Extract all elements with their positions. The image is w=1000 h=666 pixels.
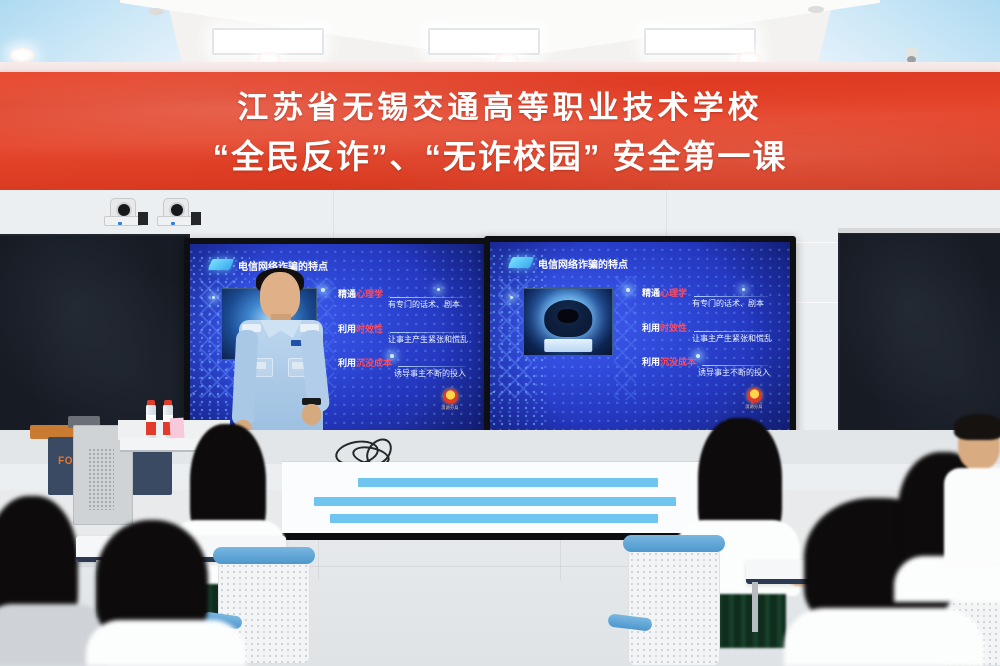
ceiling-downlight-1 [10,48,34,62]
officer-head [260,272,300,320]
bullet-3-lead [702,365,768,366]
slide-tag-icon [508,257,534,268]
badge-label: 滨湖分局 [433,405,467,411]
police-badge-icon: 滨湖分局 [433,389,467,411]
slide-photo-right [523,288,613,356]
bullet-2-prefix: 利用 [338,324,356,334]
floor-seam-2 [318,540,319,580]
classroom-photo-scene: 江苏省无锡交通高等职业技术学校 “全民反诈”、“无诈校园” 安全第一课 [0,0,1000,666]
screen-glow-dot [626,288,630,292]
ceiling [0,0,1000,78]
slide-bullet-1: 精通心理学 [642,286,687,299]
ptz-camera-left [104,198,140,228]
slide-bullet-2: 利用时效性 [338,322,383,335]
student-foreground-left [96,520,246,666]
bullet-1-highlight: 心理学 [356,289,383,299]
slide-sub-1: 有专门的话术、剧本 [388,299,460,310]
bullet-2-lead [390,332,466,333]
student-shirt [86,620,246,666]
attendee-hair [954,414,1000,440]
slide-sub-3: 诱导事主不断的投入 [698,367,770,378]
ceiling-panel-light-3 [644,28,756,55]
left-display[interactable]: 电信网络诈骗的特点 精通心理学 有专门的话术、剧本 利用时效性 让事主产生紧张和… [184,238,490,442]
desk-leg [752,582,758,632]
slide-bullet-2: 利用时效性 [642,321,687,334]
bullet-3-highlight: 沉没成本 [660,357,696,367]
screen-glow-dot [742,288,745,291]
ceiling-panel-light-1 [212,28,324,55]
bullet-3-prefix: 利用 [642,357,660,367]
banner-line-theme: “全民反诈”、“无诈校园” 安全第一课 [0,140,1000,173]
stage-stripe-2 [314,497,676,506]
slide-bullet-1: 精通心理学 [338,287,383,300]
ptz-camera-right [157,198,193,228]
screen-glow-dot [510,296,513,299]
slide-sub-2: 让事主产生紧张和慌乱 [692,333,772,344]
screen-glow-dot [212,296,215,299]
student-chair-right[interactable] [628,544,720,666]
screen-hex-grid-mid [614,276,636,400]
bullet-3-highlight: 沉没成本 [356,358,392,368]
adult-attendee-right [950,412,1000,562]
banner-line-school: 江苏省无锡交通高等职业技术学校 [0,92,1000,123]
stage-stripe-1 [358,478,658,487]
stage-front-panel [282,462,712,540]
bullet-2-lead [694,331,768,332]
bullet-2-highlight: 时效性 [660,323,687,333]
police-officer-speaker [236,270,326,445]
slide-title: 电信网络诈骗的特点 [538,256,628,271]
bullet-1-prefix: 精通 [642,288,660,298]
stage-stripe-3 [330,514,658,523]
floor-seam-3 [560,540,561,580]
attendee-shirt [944,468,1000,564]
bullet-3-prefix: 利用 [338,358,356,368]
bullet-1-lead [390,297,466,298]
hooded-hacker-icon [524,289,612,355]
bullet-1-prefix: 精通 [338,289,356,299]
bullet-2-highlight: 时效性 [356,324,383,334]
water-bottle-1[interactable] [146,404,156,438]
chalk-rail-right [838,228,1000,233]
student-shirt [784,608,984,666]
event-banner: 江苏省无锡交通高等职业技术学校 “全民反诈”、“无诈校园” 安全第一课 [0,72,1000,192]
slide-sub-3: 诱导事主不断的投入 [394,368,466,379]
ceiling-panel-light-2 [428,28,540,55]
right-screen-content: 电信网络诈骗的特点 精通心理学 有专门的话术、剧本 利用时效性 让事主产生紧张和… [490,242,790,436]
smoke-detector-left [148,8,164,15]
chalkboard-left [0,234,190,434]
slide-bullet-3: 利用沉没成本 [338,356,392,369]
bullet-1-lead [694,296,768,297]
police-badge-icon: 滨湖分局 [737,388,771,410]
officer-hand-right [302,404,321,425]
slide-sub-2: 让事主产生紧张和慌乱 [388,334,468,345]
screen-glow-dot [696,354,700,358]
screen-glow-dot [437,288,440,291]
bullet-2-prefix: 利用 [642,323,660,333]
bullet-3-lead [398,366,466,367]
slide-sub-1: 有专门的话术、剧本 [692,298,764,309]
badge-label: 滨湖分局 [737,404,771,410]
right-display[interactable]: 电信网络诈骗的特点 精通心理学 有专门的话术、剧本 利用时效性 让事主产生紧张和… [484,236,796,442]
bullet-1-highlight: 心理学 [660,288,687,298]
chalkboard-right [838,232,1000,436]
smoke-detector-right [808,6,824,13]
slide-bullet-3: 利用沉没成本 [642,355,696,368]
slide-tag-icon [208,259,234,270]
